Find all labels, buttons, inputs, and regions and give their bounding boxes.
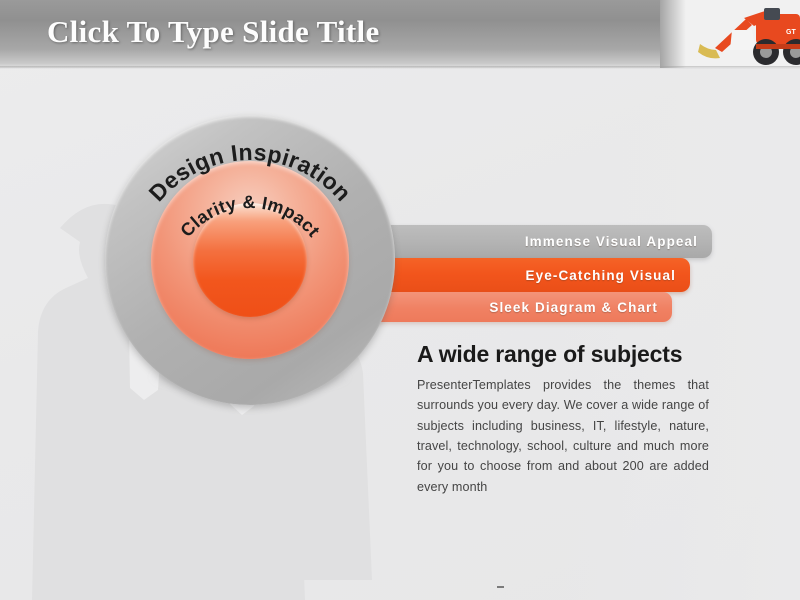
slide-canvas: GT Click To Type Slide Title Immense Vis… bbox=[0, 0, 800, 600]
body-paragraph[interactable]: PresenterTemplates provides the themes t… bbox=[417, 375, 709, 497]
label-bar-3-text: Sleek Diagram & Chart bbox=[489, 300, 658, 315]
label-bar-1-text: Immense Visual Appeal bbox=[525, 234, 698, 249]
body-heading[interactable]: A wide range of subjects bbox=[417, 341, 709, 368]
footer-mark bbox=[497, 586, 504, 588]
label-bar-2-text: Eye-Catching Visual bbox=[526, 268, 676, 283]
target-diagram[interactable]: Design Inspiration Clarity & Impact bbox=[100, 110, 400, 410]
diagram-curved-labels: Design Inspiration Clarity & Impact bbox=[100, 110, 400, 410]
body-text-block: A wide range of subjects PresenterTempla… bbox=[417, 341, 709, 497]
inner-ring-label: Clarity & Impact bbox=[176, 192, 324, 241]
